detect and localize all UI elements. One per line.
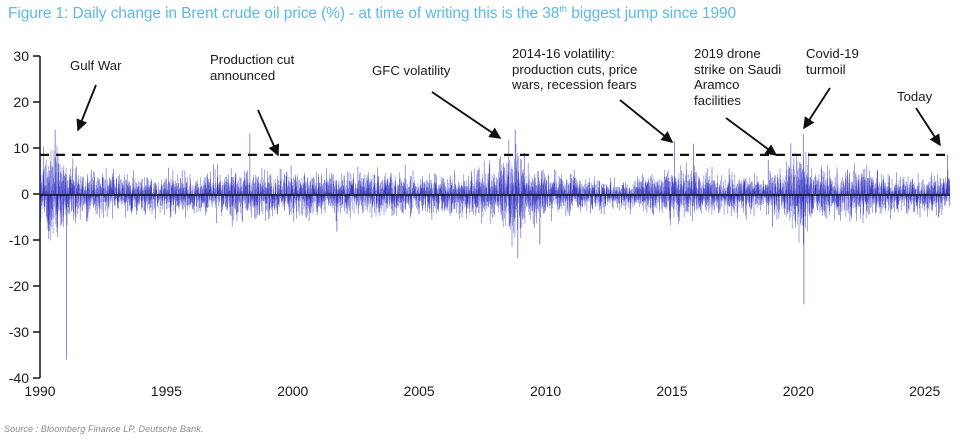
annotation-arrow xyxy=(726,118,776,155)
annotation-production-cut: Production cut announced xyxy=(210,52,294,83)
y-tick-label: -20 xyxy=(9,278,29,294)
x-tick-label: 2025 xyxy=(909,383,940,399)
y-tick-label: 10 xyxy=(13,140,29,156)
x-tick-label: 1995 xyxy=(151,383,182,399)
x-tick-label: 1990 xyxy=(24,383,55,399)
x-tick-label: 2015 xyxy=(656,383,687,399)
x-tick-label: 2005 xyxy=(404,383,435,399)
annotation-2014-16-volatility: 2014-16 volatility: production cuts, pri… xyxy=(512,46,637,93)
annotation-arrow xyxy=(432,92,500,138)
figure-container: Figure 1: Daily change in Brent crude oi… xyxy=(0,0,960,443)
y-tick-label: 0 xyxy=(21,186,29,202)
annotation-arrow xyxy=(620,100,672,142)
x-axis-tick-labels: 19901995200020052010201520202025 xyxy=(24,383,940,399)
annotation-gfc-volatility: GFC volatility xyxy=(372,63,450,79)
annotation-gulf-war: Gulf War xyxy=(70,58,122,74)
annotation-arrow xyxy=(78,85,96,130)
annotation-covid-turmoil: Covid-19 turmoil xyxy=(806,46,859,77)
annotation-arrow xyxy=(258,110,278,155)
y-tick-label: -10 xyxy=(9,232,29,248)
x-tick-label: 2020 xyxy=(783,383,814,399)
source-note: Source : Bloomberg Finance LP, Deutsche … xyxy=(4,424,203,434)
y-tick-label: 20 xyxy=(13,94,29,110)
annotation-drone-strike: 2019 drone strike on Saudi Aramco facili… xyxy=(694,46,781,108)
annotation-today: Today xyxy=(897,89,932,105)
daily-change-series xyxy=(40,130,950,360)
axis-lines xyxy=(33,56,40,378)
annotation-arrow xyxy=(916,108,940,145)
annotation-arrow xyxy=(804,88,830,128)
y-tick-label: -30 xyxy=(9,324,29,340)
y-tick-label: 30 xyxy=(13,48,29,64)
y-axis-tick-labels: 3020100-10-20-30-40 xyxy=(9,48,29,386)
x-tick-label: 2010 xyxy=(530,383,561,399)
x-tick-label: 2000 xyxy=(277,383,308,399)
